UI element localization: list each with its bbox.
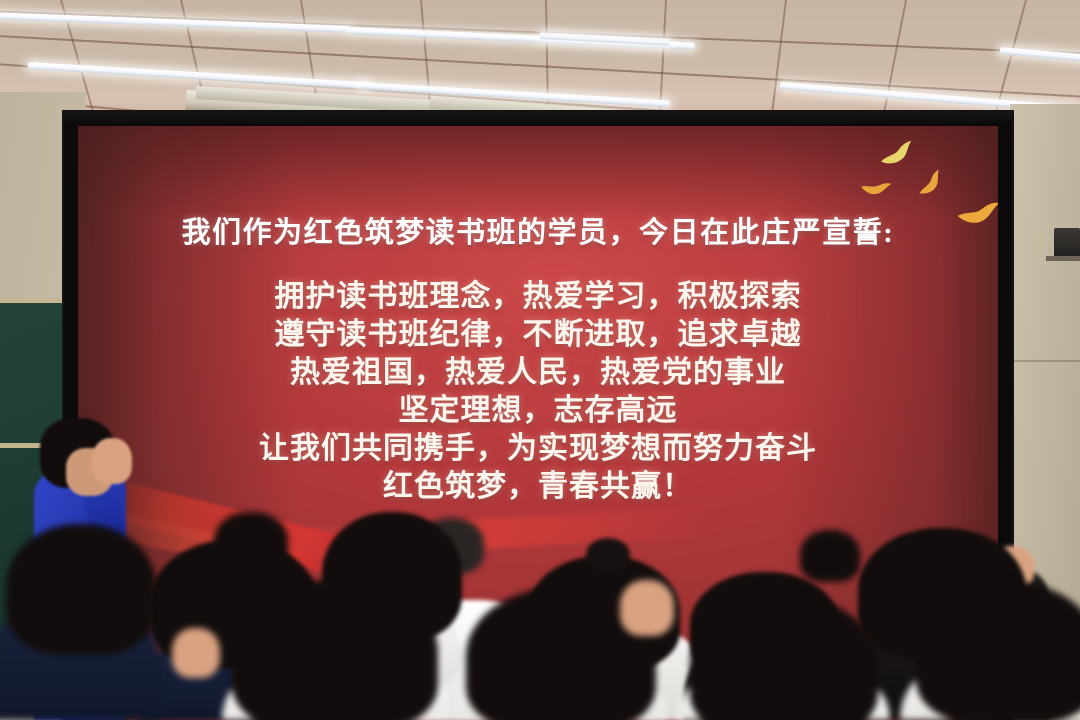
screenshot-scene: 我们作为红色筑梦读书班的学员，今日在此庄严宣誓: 拥护读书班理念，热爱学习，积极… <box>0 0 1080 720</box>
screen-oath-block: 拥护读书班理念，热爱学习，积极探索 遵守读书班纪律，不断进取，追求卓越 热爱祖国… <box>78 278 998 506</box>
oath-line: 热爱祖国，热爱人民，热爱党的事业 <box>78 354 998 392</box>
speaker-fist <box>92 438 132 484</box>
audience-fist <box>172 628 220 678</box>
oath-line: 遵守读书班纪律，不断进取，追求卓越 <box>78 316 998 354</box>
wall-speaker-shelf <box>1046 256 1080 261</box>
wall-speaker-icon <box>1054 228 1080 258</box>
oath-line: 让我们共同携手，为实现梦想而努力奋斗 <box>78 430 998 468</box>
led-screen-bezel-top <box>64 112 1012 126</box>
oath-line: 拥护读书班理念，热爱学习，积极探索 <box>78 278 998 316</box>
right-wall-seam <box>1010 360 1080 362</box>
oath-line: 红色筑梦，青春共赢！ <box>78 468 998 506</box>
audience-fist <box>620 580 674 636</box>
oath-line: 坚定理想，志存高远 <box>78 392 998 430</box>
screen-headline: 我们作为红色筑梦读书班的学员，今日在此庄严宣誓: <box>78 209 998 251</box>
ceiling-light-tube <box>1000 47 1080 62</box>
ceiling-light-tube <box>28 62 368 89</box>
audience-head <box>800 530 860 582</box>
